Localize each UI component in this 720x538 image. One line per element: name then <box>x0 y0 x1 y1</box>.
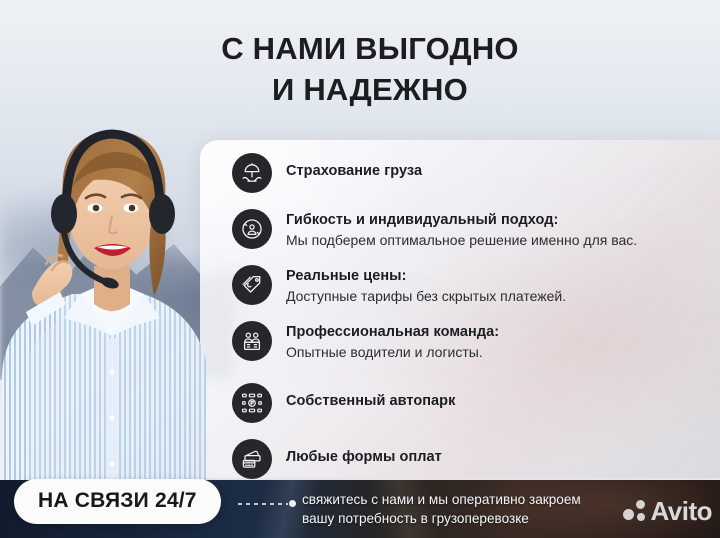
list-item: Гибкость и индивидуальный подход: Мы под… <box>232 208 702 258</box>
feature-title: Гибкость и индивидуальный подход: <box>286 211 637 231</box>
truck-fleet-parking-icon <box>232 383 272 423</box>
footer-message-line-1: свяжитесь с нами и мы оперативно закроем <box>302 490 581 510</box>
avito-wordmark: Avito <box>650 498 712 524</box>
headline-line-2: И НАДЕЖНО <box>120 69 620 110</box>
feature-list: Страхование груза Гибкость и индивидуаль… <box>232 152 702 490</box>
operator-illustration <box>0 56 240 486</box>
footer-message-line-2: вашу потребность в грузоперевозке <box>302 509 581 529</box>
status-badge: НА СВЯЗИ 24/7 <box>14 479 221 524</box>
feature-subtitle: Опытные водители и логисты. <box>286 343 499 363</box>
list-item: Любые формы оплат <box>232 438 702 482</box>
feature-subtitle: Мы подберем оптимальное решение именно д… <box>286 231 637 251</box>
wallet-card-icon <box>232 439 272 479</box>
connector-dashes <box>238 503 288 505</box>
avito-logo: Avito <box>623 498 712 524</box>
feature-title: Реальные цены: <box>286 267 566 287</box>
feature-subtitle: Доступные тарифы без скрытых платежей. <box>286 287 566 307</box>
list-item-text: Профессиональная команда: Опытные водите… <box>286 320 499 362</box>
connector-line <box>238 500 296 508</box>
price-tags-icon <box>232 265 272 305</box>
list-item-text: Собственный автопарк <box>286 382 455 412</box>
list-item-text: Гибкость и индивидуальный подход: Мы под… <box>286 208 637 250</box>
feature-title: Собственный автопарк <box>286 392 455 412</box>
list-item: Реальные цены: Доступные тарифы без скры… <box>232 264 702 314</box>
page-title: С НАМИ ВЫГОДНО И НАДЕЖНО <box>120 28 620 110</box>
list-item: Собственный автопарк <box>232 382 702 426</box>
list-item: Профессиональная команда: Опытные водите… <box>232 320 702 370</box>
avito-dots-icon <box>623 500 649 522</box>
list-item: Страхование груза <box>232 152 702 196</box>
feature-title: Страхование груза <box>286 162 422 182</box>
team-people-icon <box>232 321 272 361</box>
feature-title: Профессиональная команда: <box>286 323 499 343</box>
list-item-text: Реальные цены: Доступные тарифы без скры… <box>286 264 566 306</box>
umbrella-hands-icon <box>232 153 272 193</box>
advertisement-banner: С НАМИ ВЫГОДНО И НАДЕЖНО <box>0 0 720 538</box>
footer-message: свяжитесь с нами и мы оперативно закроем… <box>302 490 581 529</box>
list-item-text: Страхование груза <box>286 152 422 182</box>
list-item-text: Любые формы оплат <box>286 438 442 468</box>
operator-photo <box>0 56 240 486</box>
connector-dot <box>289 500 296 507</box>
flexible-approach-icon <box>232 209 272 249</box>
headline-line-1: С НАМИ ВЫГОДНО <box>221 31 518 66</box>
feature-title: Любые формы оплат <box>286 448 442 468</box>
